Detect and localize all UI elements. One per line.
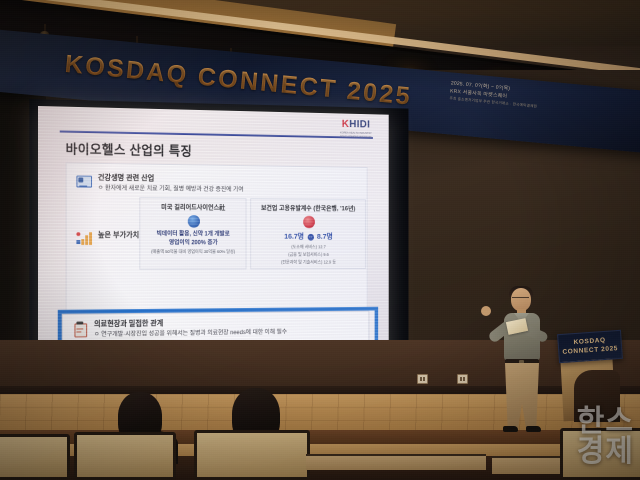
seat-2 bbox=[74, 432, 176, 480]
stat-values-employment: 16.7명 ↔ 8.7명 bbox=[251, 231, 365, 242]
khidi-subtext-2: DEVELOPMENT INSTITUTE bbox=[336, 136, 377, 140]
speaker-pants bbox=[505, 363, 539, 429]
bar-chart-icon bbox=[75, 231, 92, 247]
slide-title: 바이오헬스 산업의 특징 bbox=[66, 139, 193, 160]
stat-box-gilead: 미국 길리어드사이언스社 빅데이터 활용, 신약 1개 개발로 영업이익 200… bbox=[139, 197, 246, 270]
speaker bbox=[489, 288, 561, 446]
blue-circle-icon bbox=[187, 215, 199, 228]
stat-title-employment: 보건업 고용유발계수 (한국은행, '16년) bbox=[251, 203, 365, 213]
ceiling-light-stem bbox=[44, 24, 46, 31]
bullet-heading-2: 높은 부가가치 bbox=[98, 230, 139, 239]
khidi-logo: KHIDI KOREA HEALTH INDUSTRY DEVELOPMENT … bbox=[336, 119, 377, 137]
wall-outlet-1 bbox=[417, 374, 428, 384]
conference-photo-scene: KOSDAQ CONNECT 2025 2025. 07. 0?(화) ~ 0?… bbox=[0, 0, 640, 480]
desk-surface-1 bbox=[306, 454, 486, 470]
stat-note-employment-2: (금융 및 보험서비스) 9.6 bbox=[251, 252, 365, 258]
seat-3 bbox=[194, 430, 310, 480]
news-watermark: 한스 경제 bbox=[577, 407, 634, 468]
stat-note-employment-3: (전문과학 및 기술서비스) 12.9 등 bbox=[251, 260, 365, 266]
khidi-letters-hidi: HIDI bbox=[349, 118, 370, 130]
glasses-icon bbox=[512, 297, 529, 302]
arrow-icon: ↔ bbox=[307, 234, 313, 241]
belt-buckle bbox=[519, 360, 524, 364]
podium-sign: KOSDAQ CONNECT 2025 bbox=[557, 330, 623, 363]
stat-note-gilead: (매출액 50억불 대비 영업이익 30억불 60% 달성) bbox=[140, 249, 245, 255]
bullet-heading-3: 의료현장과 밀접한 관계 bbox=[94, 317, 287, 328]
podium-sign-line-2: CONNECT 2025 bbox=[562, 345, 618, 358]
bullet-row-1: 건강생명 관련 산업 ㅇ 환자에게 새로운 치료 기회, 질병 예방과 건강 증… bbox=[75, 173, 355, 196]
speaker-raised-hand bbox=[481, 306, 491, 316]
bullet-sub-1-1: ㅇ 환자에게 새로운 치료 기회, 질병 예방과 건강 증진에 기여 bbox=[98, 183, 244, 194]
watermark-line-1: 한스 bbox=[577, 407, 634, 438]
stat-value-left: 16.7명 bbox=[284, 232, 304, 241]
monitor-health-icon bbox=[75, 174, 92, 190]
wall-outlet-2 bbox=[457, 374, 468, 384]
stat-value-right: 8.7명 bbox=[317, 232, 333, 241]
watermark-line-2: 경제 bbox=[577, 437, 634, 468]
red-circle-icon bbox=[303, 216, 315, 228]
stat-box-employment: 보건업 고용유발계수 (한국은행, '16년) 16.7명 ↔ 8.7명 (도소… bbox=[250, 198, 366, 269]
audience-seating bbox=[0, 424, 640, 480]
bullet-heading-1: 건강생명 관련 산업 bbox=[98, 173, 244, 184]
stat-body-gilead-1: 빅데이터 활용, 신약 1개 개발로 bbox=[140, 230, 245, 239]
stat-note-employment-1: (도소매 서비스) 12.7 bbox=[251, 244, 365, 250]
khidi-wordmark: KHIDI bbox=[336, 119, 377, 130]
slide-top-rule bbox=[60, 130, 373, 138]
clipboard-icon bbox=[72, 320, 89, 336]
seat-1 bbox=[0, 434, 70, 480]
stat-title-gilead: 미국 길리어드사이언스社 bbox=[140, 202, 245, 212]
stat-body-gilead-2: 영업이익 200% 증가 bbox=[140, 239, 245, 248]
